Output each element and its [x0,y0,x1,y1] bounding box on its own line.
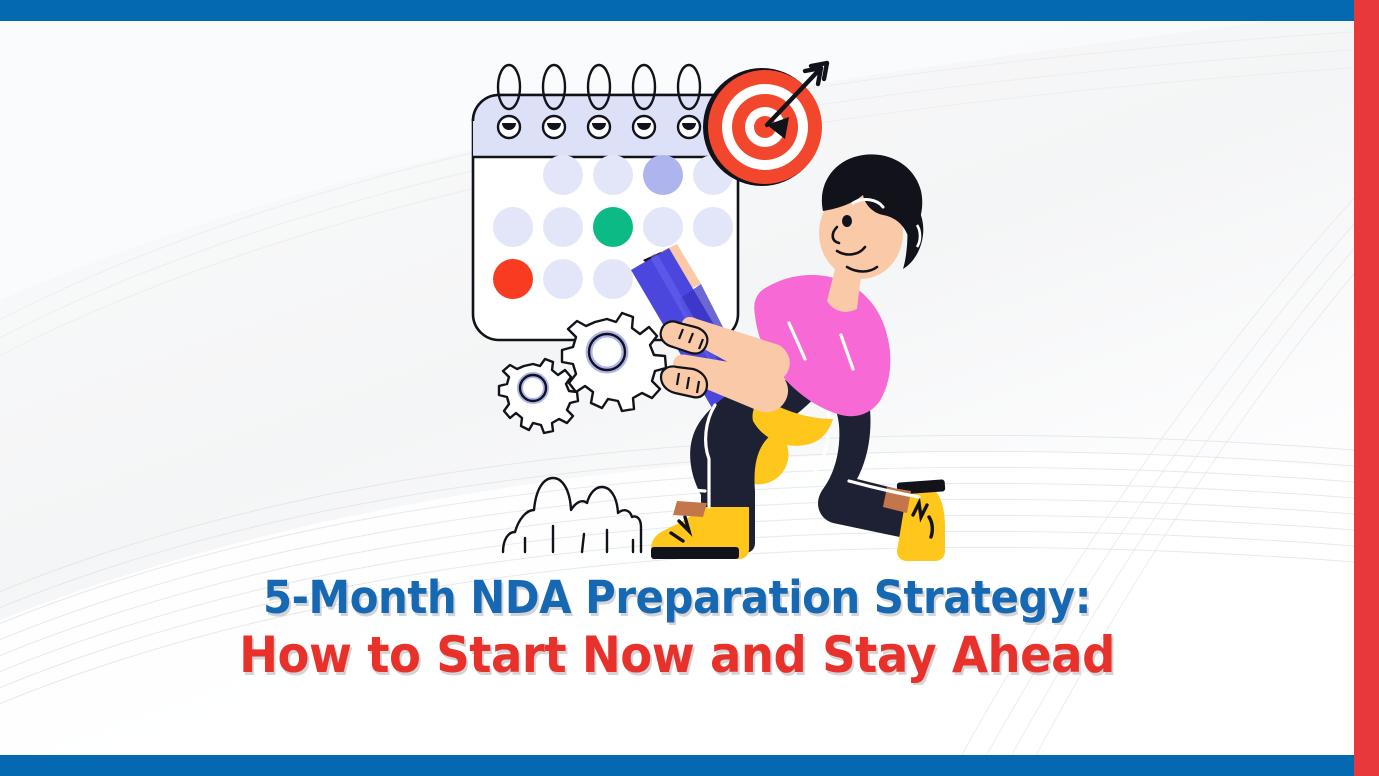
bottom-accent-bar [0,755,1354,776]
banner-title: 5-Month NDA Preparation Strategy: How to… [0,575,1354,680]
top-accent-bar [0,0,1354,21]
hand-lower [661,366,707,397]
right-accent-stripe [1354,0,1379,776]
bush-decoration [503,478,641,552]
title-line-secondary: How to Start Now and Stay Ahead [47,630,1306,680]
title-line-primary: 5-Month NDA Preparation Strategy: [47,575,1306,620]
gear-small-icon [499,359,578,433]
banner-canvas: 5-Month NDA Preparation Strategy: How to… [0,0,1379,776]
hero-illustration [455,55,975,565]
head [819,154,923,279]
